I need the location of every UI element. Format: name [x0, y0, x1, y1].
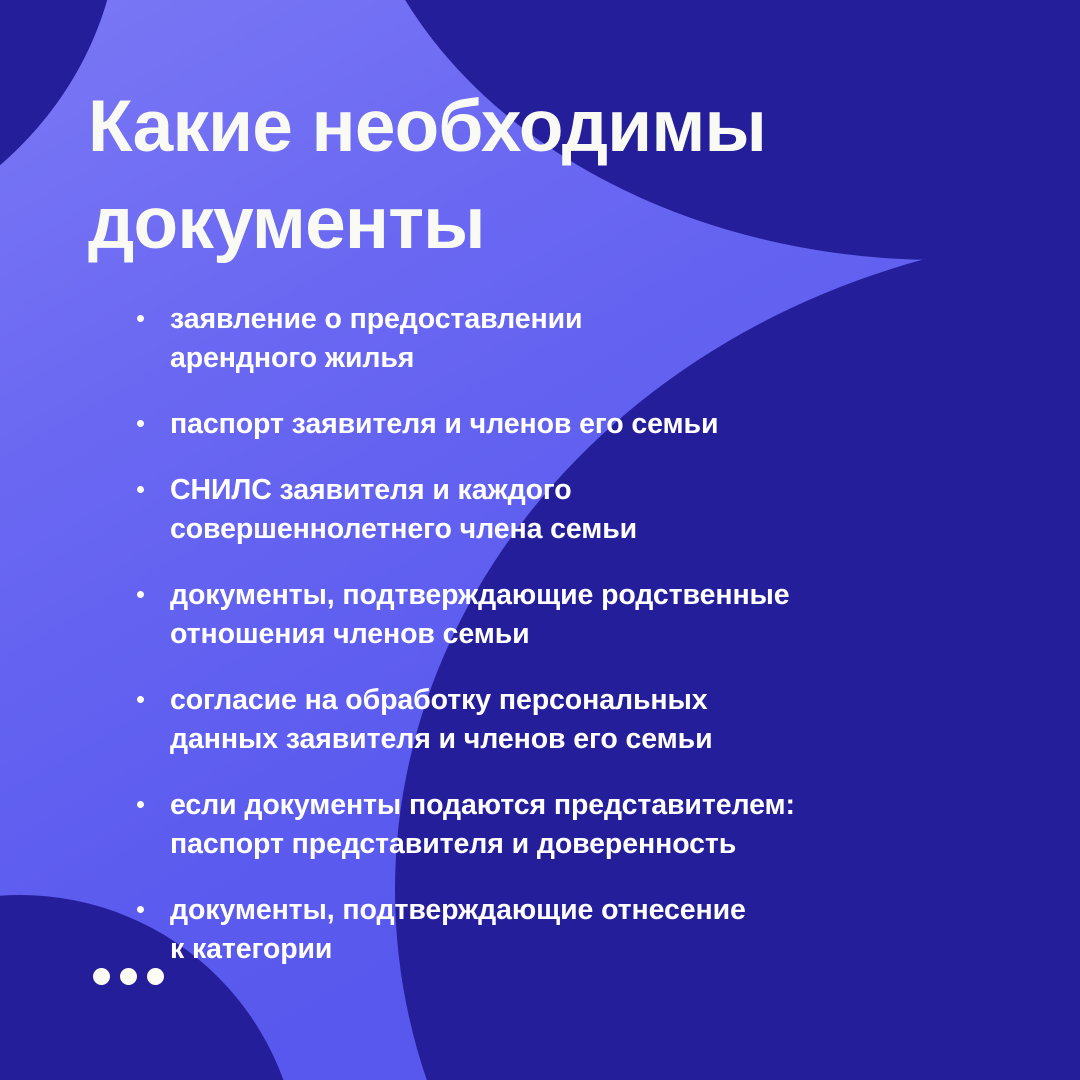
list-item-label: заявление о предоставлении арендного жил… — [170, 300, 954, 378]
carousel-indicator[interactable] — [93, 968, 164, 985]
slide-card: Какие необходимы документы заявление о п… — [0, 0, 1080, 1080]
bullet-dot-icon — [137, 696, 144, 703]
bullet-dot-icon — [137, 486, 144, 493]
list-item-label: СНИЛС заявителя и каждого совершеннолетн… — [170, 471, 954, 549]
documents-bullet-list: заявление о предоставлении арендного жил… — [134, 300, 954, 969]
list-item: документы, подтверждающие отнесение к ка… — [134, 891, 954, 969]
list-item: заявление о предоставлении арендного жил… — [134, 300, 954, 378]
indicator-dot-3[interactable] — [147, 968, 164, 985]
list-item-label: паспорт заявителя и членов его семьи — [170, 405, 954, 444]
list-item: если документы подаются представителем: … — [134, 786, 954, 864]
list-item: согласие на обработку персональных данны… — [134, 681, 954, 759]
list-item: документы, подтверждающие родственные от… — [134, 576, 954, 654]
slide-content: Какие необходимы документы заявление о п… — [0, 0, 1080, 1080]
indicator-dot-1[interactable] — [93, 968, 110, 985]
list-item-label: если документы подаются представителем: … — [170, 786, 954, 864]
bullet-dot-icon — [137, 801, 144, 808]
list-item-label: согласие на обработку персональных данны… — [170, 681, 954, 759]
list-item: паспорт заявителя и членов его семьи — [134, 405, 954, 444]
indicator-dot-2[interactable] — [120, 968, 137, 985]
list-item: СНИЛС заявителя и каждого совершеннолетн… — [134, 471, 954, 549]
bullet-dot-icon — [137, 315, 144, 322]
bullet-dot-icon — [137, 420, 144, 427]
list-item-label: документы, подтверждающие отнесение к ка… — [170, 891, 954, 969]
page-title: Какие необходимы документы — [88, 78, 968, 272]
list-item-label: документы, подтверждающие родственные от… — [170, 576, 954, 654]
bullet-dot-icon — [137, 591, 144, 598]
bullet-dot-icon — [137, 906, 144, 913]
